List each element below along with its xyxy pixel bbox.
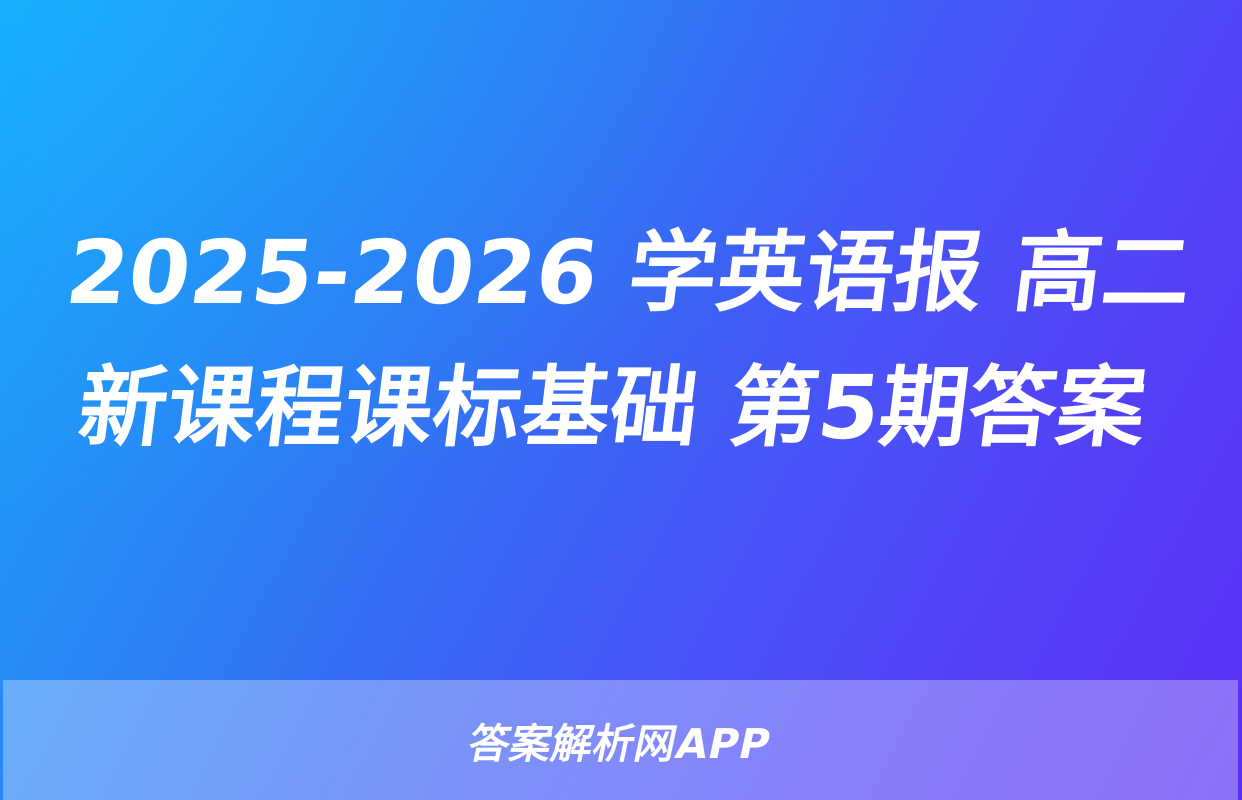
page-title: 2025-2026 学英语报 高二 新课程课标基础 第5期答案 xyxy=(41,205,1200,475)
answer-key-poster: 2025-2026 学英语报 高二 新课程课标基础 第5期答案 答案解析网APP xyxy=(0,0,1242,800)
headline-container: 2025-2026 学英语报 高二 新课程课标基础 第5期答案 xyxy=(0,0,1242,680)
watermark-band: 答案解析网APP xyxy=(3,680,1238,800)
app-watermark-label: 答案解析网APP xyxy=(464,710,778,770)
